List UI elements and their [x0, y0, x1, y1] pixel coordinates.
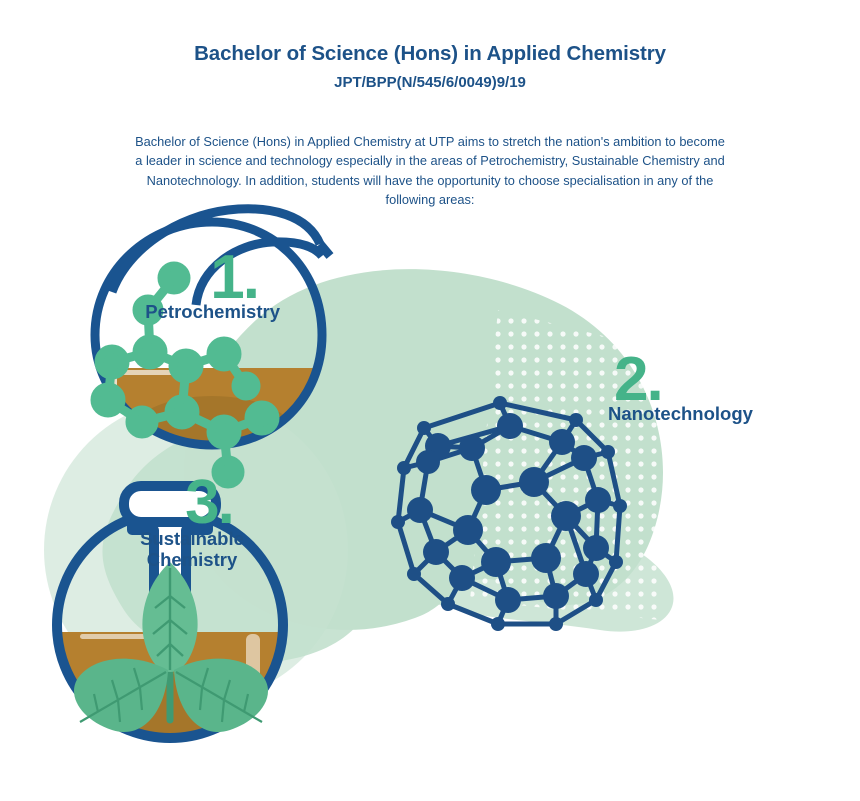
specialisation-name-nanotechnology: Nanotechnology [608, 404, 838, 425]
specialisation-label-petrochemistry: 1. Petrochemistry [80, 250, 280, 323]
specialisation-name-sustainable-chemistry: Sustainable Chemistry [92, 529, 292, 570]
programme-description: Bachelor of Science (Hons) in Applied Ch… [130, 132, 730, 210]
specialisation-number-3: 3. [126, 475, 292, 531]
programme-code: JPT/BPP(N/545/6/0049)9/19 [0, 66, 860, 91]
page-title: Bachelor of Science (Hons) in Applied Ch… [0, 0, 860, 66]
header: Bachelor of Science (Hons) in Applied Ch… [0, 0, 860, 91]
specialisation-number-2: 2. [614, 352, 838, 408]
specialisation-label-nanotechnology: 2. Nanotechnology [608, 352, 838, 425]
specialisation-name-line-2: Chemistry [147, 549, 237, 570]
specialisation-number-1: 1. [80, 250, 258, 306]
specialisation-name-petrochemistry: Petrochemistry [80, 302, 280, 323]
infographic-page: Bachelor of Science (Hons) in Applied Ch… [0, 0, 860, 801]
specialisation-name-line-1: Sustainable [140, 528, 244, 549]
specialisation-label-sustainable-chemistry: 3. Sustainable Chemistry [92, 475, 292, 570]
